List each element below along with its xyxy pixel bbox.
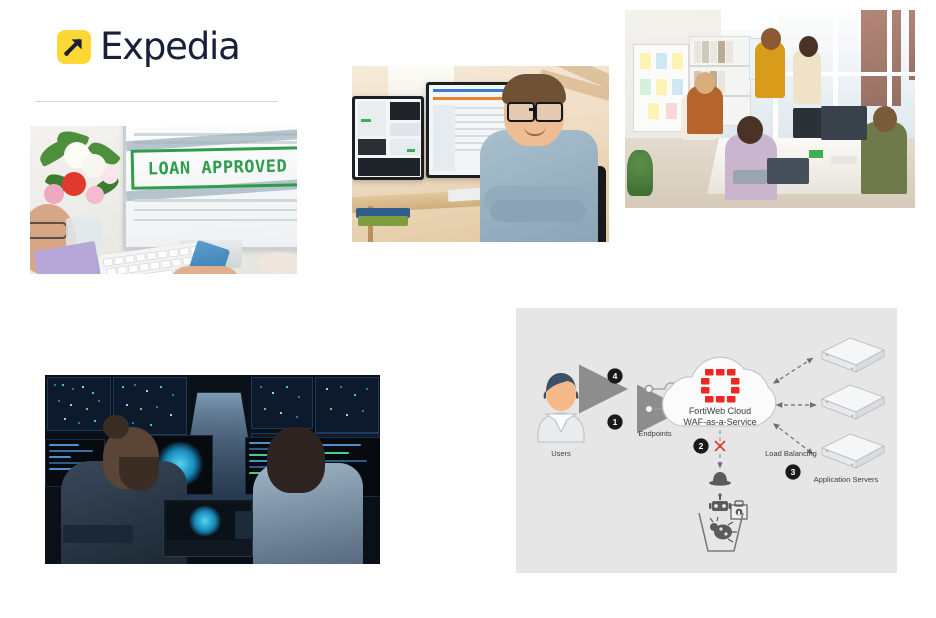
- server-box-icon: [822, 385, 884, 419]
- endpoints-label: Endpoints: [638, 429, 672, 438]
- svg-text:3: 3: [791, 467, 796, 477]
- bot-icon: [709, 493, 731, 511]
- step-badge-4: 4: [607, 368, 622, 383]
- loan-approved-photo: LOAN APPROVED: [30, 126, 297, 274]
- svg-text:1: 1: [613, 417, 618, 427]
- svg-text:2: 2: [699, 441, 704, 451]
- person-seated-3: [861, 122, 907, 194]
- security-operations-center-photo: [45, 375, 380, 564]
- step-badge-2: 2: [693, 438, 708, 453]
- cloud-title-line1: FortiWeb Cloud: [689, 406, 751, 416]
- red-x-icon: [715, 441, 725, 451]
- application-servers-label: Application Servers: [814, 475, 879, 484]
- team-office-photo: [625, 10, 915, 208]
- developer-portrait-photo: [352, 66, 609, 242]
- expedia-logo: Expedia: [57, 28, 240, 65]
- fortiweb-cloud: FortiWeb Cloud WAF-as-a-Service: [662, 357, 775, 427]
- arrow-up-right-icon: [57, 30, 91, 64]
- malware-file-icon: [731, 501, 747, 519]
- loan-approved-stamp: LOAN APPROVED: [131, 146, 297, 190]
- loan-approved-stamp-text: LOAN APPROVED: [148, 157, 288, 180]
- expedia-wordmark: Expedia: [100, 28, 240, 65]
- step-badge-1: 1: [607, 414, 622, 429]
- load-balancing-label: Load Balancing: [765, 449, 817, 458]
- flower-bouquet: [36, 128, 132, 228]
- user-avatar-icon: [538, 373, 584, 442]
- person-standing-2: [793, 50, 821, 104]
- fortiweb-architecture-diagram: Users 4 1 Endpoints: [516, 308, 897, 573]
- step-badge-3: 3: [785, 464, 800, 479]
- svg-text:4: 4: [613, 371, 618, 381]
- hacker-hat-icon: [709, 472, 731, 486]
- bug-icon: [710, 517, 737, 542]
- cloud-title-line2: WAF-as-a-Service: [683, 417, 756, 427]
- server-box-icon: [822, 338, 884, 372]
- users-label: Users: [551, 449, 571, 458]
- server-box-icon: [822, 434, 884, 468]
- person-standing-1: [755, 42, 785, 98]
- header-divider: [35, 101, 278, 102]
